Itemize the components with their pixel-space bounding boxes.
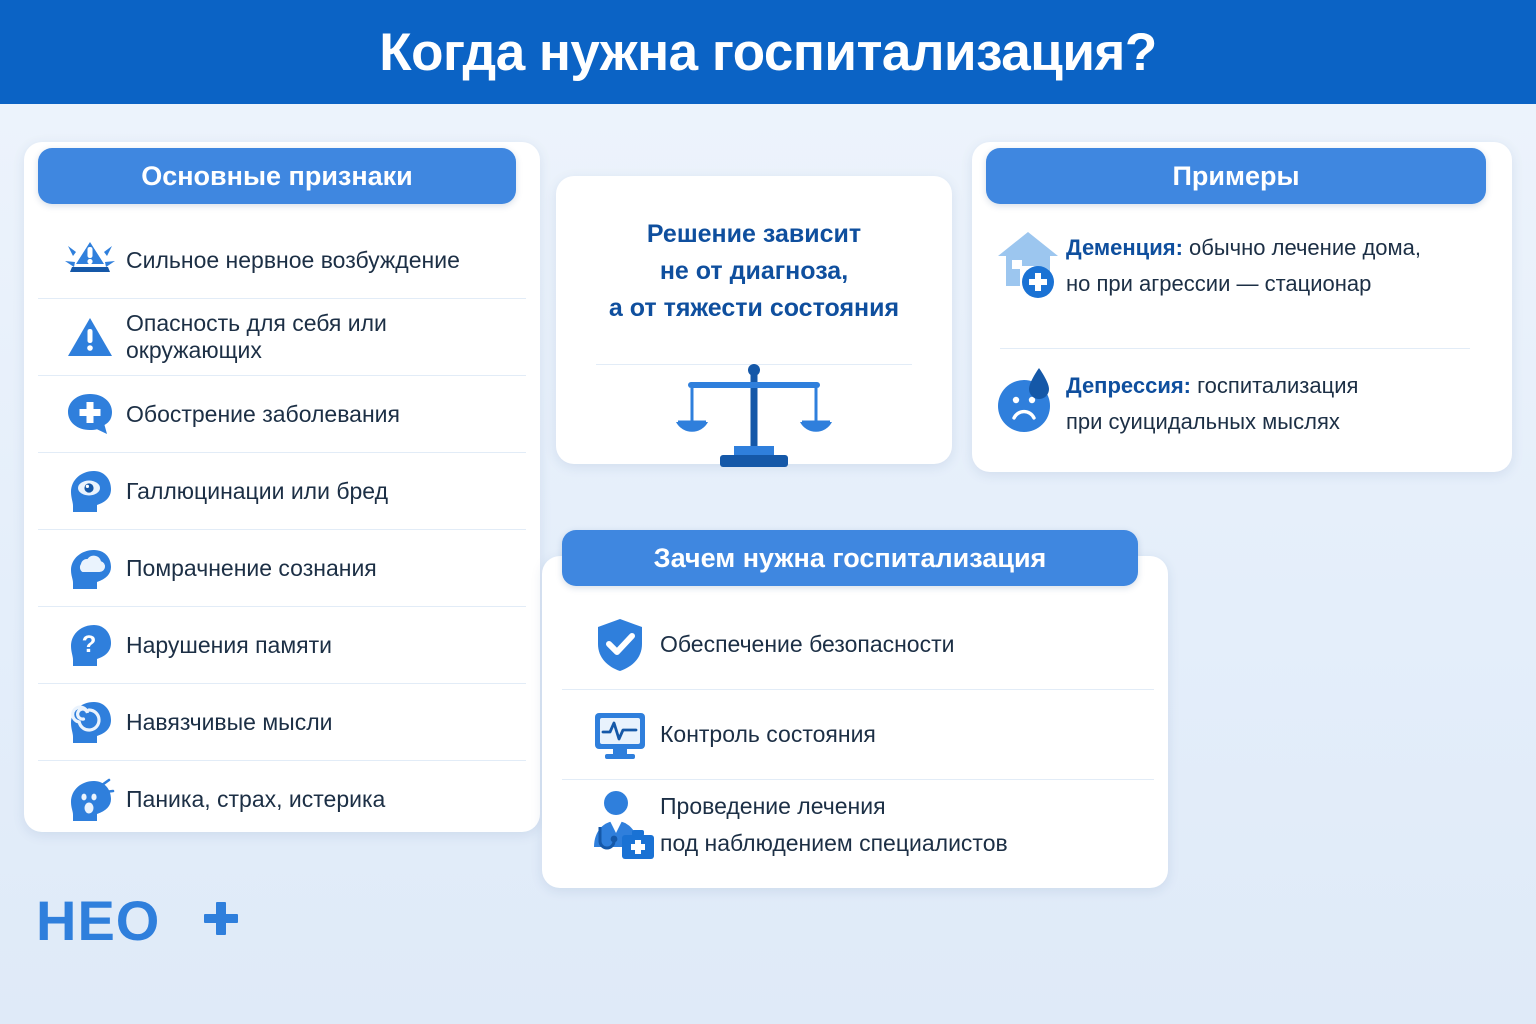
example-line-1: госпитализация	[1191, 373, 1358, 398]
example-term: Депрессия:	[1066, 373, 1191, 398]
alert-burst-icon	[62, 234, 118, 286]
decision-line-1: Решение зависит	[576, 216, 932, 253]
list-item-label: Депрессия: госпитализация при суицидальн…	[1066, 364, 1358, 440]
page-header: Когда нужна госпитализация?	[0, 0, 1536, 104]
head-eye-icon	[62, 465, 118, 517]
logo[interactable]: НЕО	[36, 892, 246, 954]
list-item-label: Навязчивые мысли	[126, 709, 332, 736]
example-line-2: при суицидальных мыслях	[1066, 409, 1340, 434]
signs-band: Основные признаки	[38, 148, 516, 204]
example-line-1: обычно лечение дома,	[1183, 235, 1421, 260]
list-item[interactable]: Опасность для себя или окружающих	[38, 299, 526, 376]
list-item[interactable]: ? Нарушения памяти	[38, 607, 526, 684]
list-item-label: Деменция: обычно лечение дома, но при аг…	[1066, 226, 1421, 302]
example-line-2: но при агрессии — стационар	[1066, 271, 1371, 296]
why-band: Зачем нужна госпитализация	[562, 530, 1138, 586]
scales-icon	[668, 360, 840, 472]
list-item[interactable]: Навязчивые мысли	[38, 684, 526, 761]
signs-band-title: Основные признаки	[141, 161, 413, 192]
list-item[interactable]: Сильное нервное возбуждение	[38, 222, 526, 299]
svg-text:НЕО: НЕО	[36, 892, 160, 952]
list-item-label: Проведение лечения под наблюдением специ…	[660, 788, 1008, 862]
head-question-icon: ?	[62, 619, 118, 671]
decision-line-2: не от диагноза,	[576, 253, 932, 290]
list-item-label: Нарушения памяти	[126, 632, 332, 659]
list-item[interactable]: Обеспечение безопасности	[562, 600, 1154, 690]
list-item-label: Паника, страх, истерика	[126, 786, 385, 813]
head-spiral-icon	[62, 696, 118, 748]
list-item-label: Контроль состояния	[660, 716, 876, 753]
list-item-label: Сильное нервное возбуждение	[126, 247, 460, 274]
examples-band-title: Примеры	[1172, 161, 1299, 192]
why-line-1: Проведение лечения	[660, 793, 886, 819]
shield-check-icon	[580, 616, 660, 674]
why-band-title: Зачем нужна госпитализация	[654, 543, 1047, 574]
list-item-label: Помрачнение сознания	[126, 555, 377, 582]
house-medical-icon	[990, 226, 1066, 300]
doctor-icon	[580, 787, 660, 863]
list-item[interactable]: Контроль состояния	[562, 690, 1154, 780]
list-item[interactable]: Паника, страх, истерика	[38, 761, 526, 838]
list-item[interactable]: Галлюцинации или бред	[38, 453, 526, 530]
list-item[interactable]: Деменция: обычно лечение дома, но при аг…	[990, 226, 1490, 302]
why-list: Обеспечение безопасности Контроль состоя…	[562, 600, 1154, 870]
warning-triangle-icon	[62, 311, 118, 363]
list-item[interactable]: Обострение заболевания	[38, 376, 526, 453]
head-cloud-icon	[62, 542, 118, 594]
list-item-label: Обеспечение безопасности	[660, 626, 955, 663]
list-item-label: Обострение заболевания	[126, 401, 400, 428]
examples-band: Примеры	[986, 148, 1486, 204]
why-line-2: под наблюдением специалистов	[660, 830, 1008, 856]
example-term: Деменция:	[1066, 235, 1183, 260]
list-item[interactable]: Проведение лечения под наблюдением специ…	[562, 780, 1154, 870]
monitor-pulse-icon	[580, 709, 660, 761]
list-item-label: Опасность для себя или окружающих	[126, 310, 526, 364]
head-panic-icon	[62, 774, 118, 826]
svg-text:?: ?	[82, 631, 97, 658]
decision-line-3: а от тяжести состояния	[576, 290, 932, 327]
examples-divider	[1000, 348, 1470, 349]
page-title: Когда нужна госпитализация?	[379, 22, 1156, 83]
list-item-label: Галлюцинации или бред	[126, 478, 388, 505]
signs-list: Сильное нервное возбуждение Опасность дл…	[38, 222, 526, 838]
sad-face-drop-icon	[990, 364, 1066, 438]
decision-text: Решение зависит не от диагноза, а от тяж…	[576, 216, 932, 327]
list-item[interactable]: Помрачнение сознания	[38, 530, 526, 607]
medical-cross-speech-icon	[62, 388, 118, 440]
list-item[interactable]: Депрессия: госпитализация при суицидальн…	[990, 364, 1490, 440]
infographic-page: Когда нужна госпитализация? Основные при…	[0, 0, 1536, 1024]
